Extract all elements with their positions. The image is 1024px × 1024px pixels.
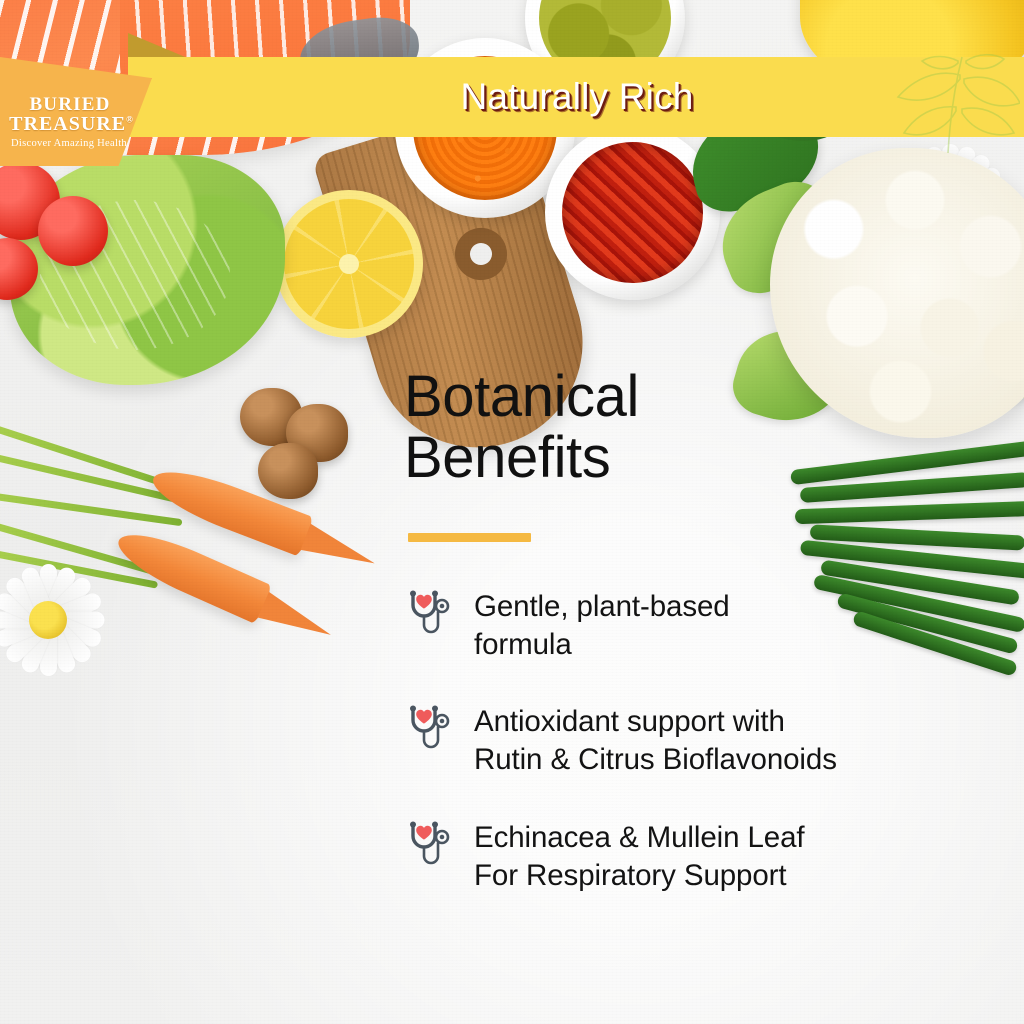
- logo-word-buried: BURIED: [29, 95, 110, 114]
- list-item-label: Antioxidant support with Rutin & Citrus …: [474, 701, 837, 779]
- list-item: Antioxidant support with Rutin & Citrus …: [404, 701, 964, 779]
- banner-title: Naturally Rich: [128, 57, 1024, 137]
- logo-word-treasure: TREASURE®: [9, 114, 133, 135]
- stethoscope-heart-icon: [404, 705, 450, 753]
- stethoscope-heart-icon: [404, 821, 450, 869]
- list-item: Echinacea & Mullein Leaf For Respiratory…: [404, 817, 964, 895]
- list-item: Gentle, plant-based formula: [404, 586, 964, 664]
- page-title: Botanical Benefits: [404, 366, 964, 489]
- benefits-list: Gentle, plant-based formula Antioxidant …: [404, 586, 964, 895]
- registered-trademark-icon: ®: [126, 114, 133, 124]
- list-item-label: Gentle, plant-based formula: [474, 586, 730, 664]
- top-banner: Naturally Rich: [128, 57, 1024, 137]
- content-block: Botanical Benefits Gentle, plant-based f…: [404, 366, 964, 894]
- list-item-label: Echinacea & Mullein Leaf For Respiratory…: [474, 817, 805, 895]
- title-accent-bar: [408, 533, 531, 542]
- poster-canvas: Naturally Rich BURIED TREASURE® Discover…: [0, 0, 1024, 1024]
- stethoscope-heart-icon: [404, 590, 450, 638]
- logo-word-treasure-text: TREASURE: [9, 113, 126, 135]
- logo-tagline: Discover Amazing Health: [11, 138, 127, 149]
